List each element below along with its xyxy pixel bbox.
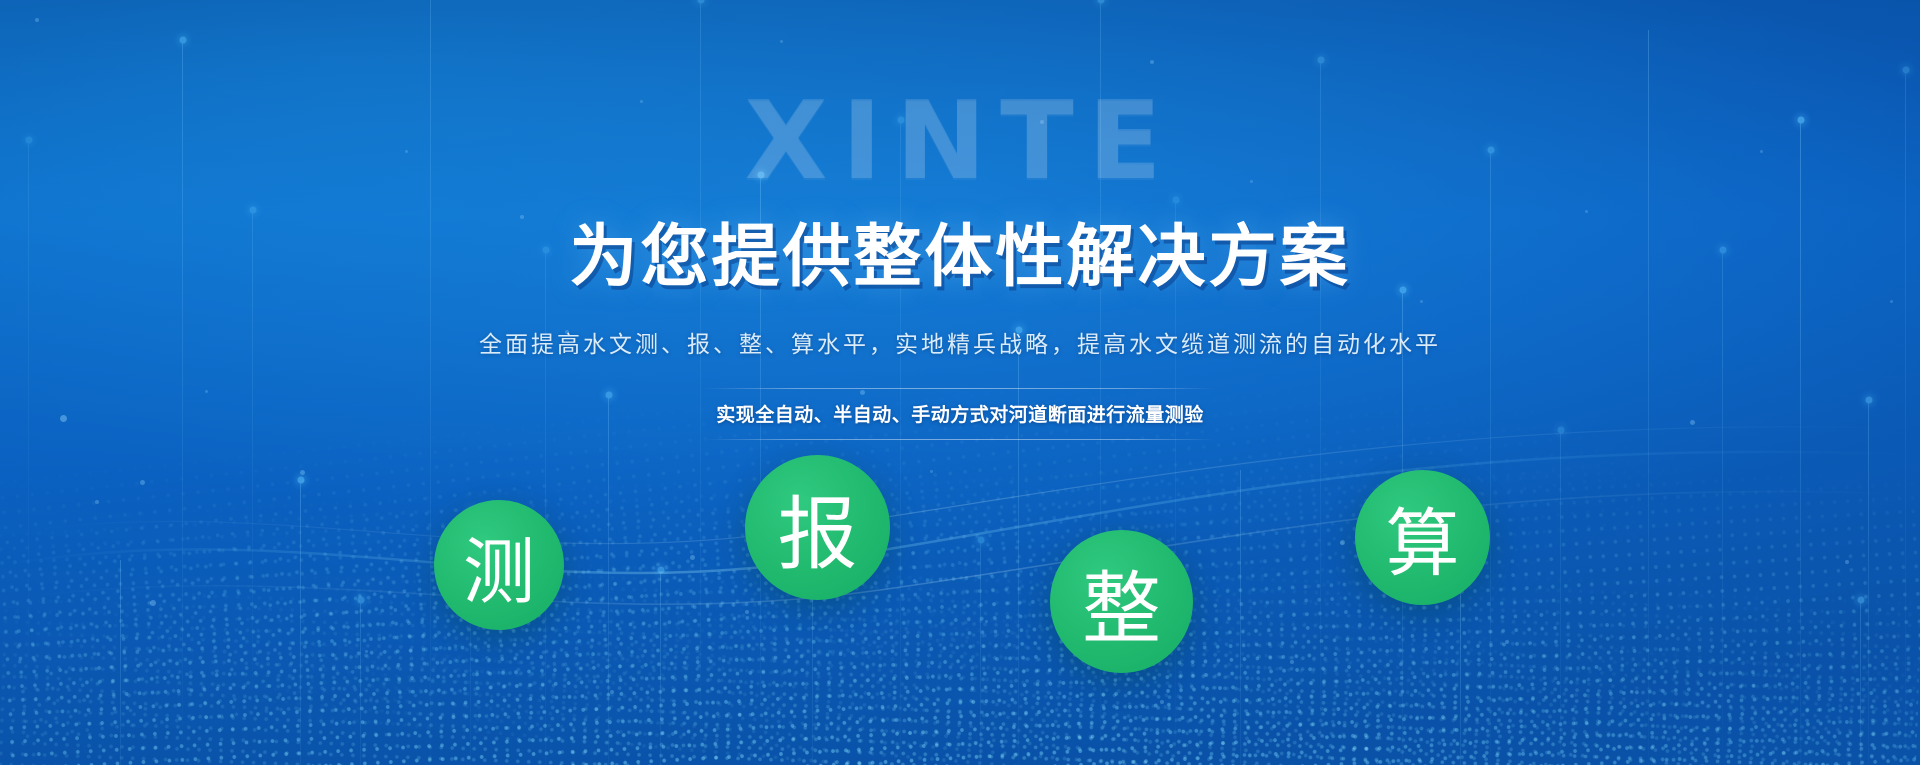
keyword-circle-label: 整	[1082, 544, 1161, 659]
keyword-circle-label: 测	[463, 513, 535, 618]
keyword-circle-label: 算	[1386, 484, 1460, 591]
keyword-circle-3[interactable]: 整	[1050, 530, 1193, 673]
keyword-circle-2[interactable]: 报	[745, 455, 890, 600]
keyword-circle-group: 测报整算	[0, 0, 1920, 765]
hero-banner: XINTE 为您提供整体性解决方案 全面提高水文测、报、整、算水平，实地精兵战略…	[0, 0, 1920, 765]
keyword-circle-4[interactable]: 算	[1355, 470, 1490, 605]
keyword-circle-label: 报	[778, 470, 858, 586]
keyword-circle-1[interactable]: 测	[434, 500, 564, 630]
